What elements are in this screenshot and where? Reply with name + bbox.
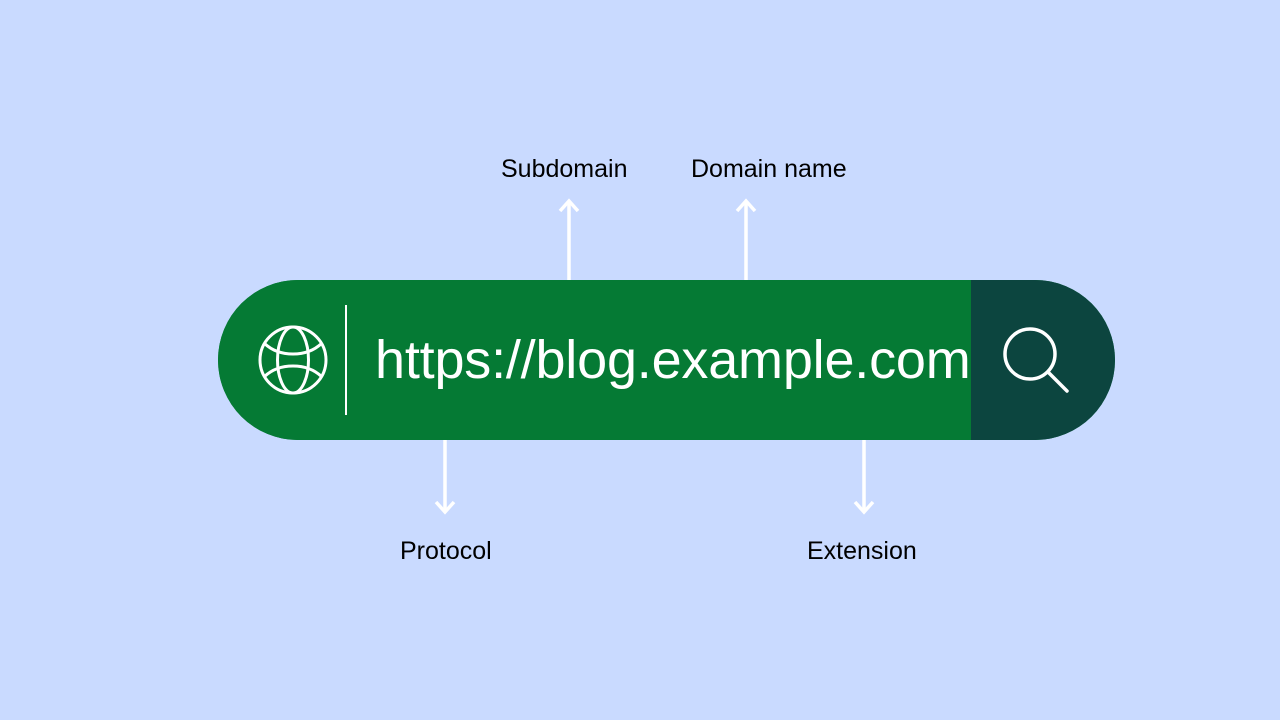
field-divider: [345, 305, 347, 415]
url-text[interactable]: https://blog.example.com: [375, 333, 971, 387]
diagram-canvas: Subdomain Domain name Protocol Extension: [0, 0, 1280, 720]
url-bar: https://blog.example.com: [218, 280, 1115, 440]
search-icon: [999, 323, 1073, 397]
globe-icon: [258, 325, 328, 395]
url-input-field[interactable]: https://blog.example.com: [218, 280, 971, 440]
